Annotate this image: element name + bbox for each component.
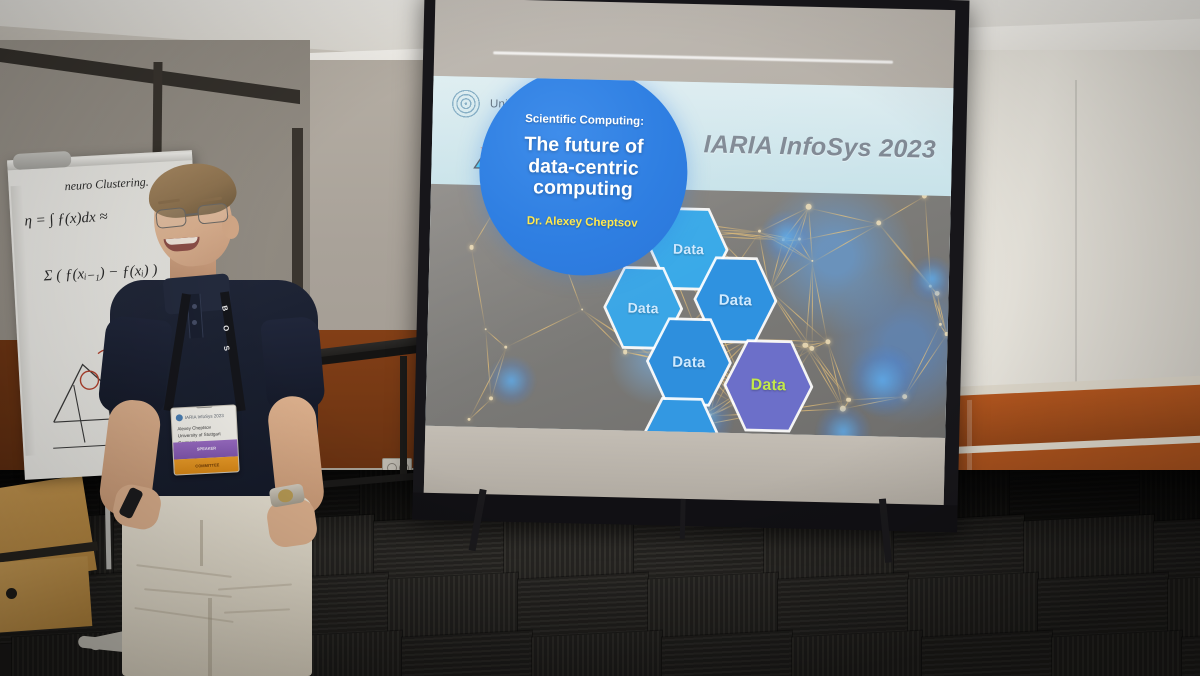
polo-button-1 — [192, 304, 197, 309]
trousers-leg-split — [208, 598, 212, 676]
slide-event-title: IARIA InfoSys 2023 — [703, 130, 936, 164]
desk-knob — [6, 588, 17, 599]
screen-tripod-leg-center — [680, 499, 686, 539]
table-leg-right — [400, 356, 407, 478]
eyeglass-bridge — [186, 213, 198, 216]
badge-logo-icon — [176, 414, 183, 421]
badge-org-line: IARIA InfoSys 2023 — [176, 410, 232, 424]
slide-eyebrow: Scientific Computing: — [525, 113, 644, 128]
badge-ribbon-speaker-label: SPEAKER — [173, 444, 239, 452]
presenter-teeth — [166, 237, 198, 245]
slide-title-circle-content: Scientific Computing: The future of data… — [477, 76, 690, 278]
slide-author: Dr. Alexey Cheptsov — [527, 215, 638, 230]
conference-badge: IARIA InfoSys 2023 Alexey Cheptsov Unive… — [170, 404, 239, 475]
slide-title-line-3: computing — [523, 177, 643, 202]
polo-button-2 — [192, 320, 197, 325]
badge-ribbon-committee-label: COMMITTEE — [174, 461, 239, 469]
presenter-figure: B O S IARIA InfoSys 2023 Alexey Cheptsov… — [96, 168, 356, 676]
projection-screen-assembly: Universität Stuttgart IARIA IARIA InfoSy… — [411, 0, 969, 560]
carpet-tile — [792, 631, 922, 676]
carpet-tile — [532, 631, 662, 676]
carpet-tile — [922, 631, 1052, 676]
badge-org-text: IARIA InfoSys 2023 — [185, 413, 224, 420]
eyeglass-lens-left — [155, 207, 187, 229]
universitaet-stuttgart-logo — [451, 88, 482, 119]
wristwatch-face — [277, 488, 294, 503]
slide-main-title: The future of data-centric computing — [523, 134, 644, 202]
trousers-fly — [200, 520, 203, 566]
carpet-tile — [1182, 631, 1200, 676]
flipchart-clamp — [13, 151, 72, 170]
carpet-tile — [662, 631, 792, 676]
eyeglass-lens-right — [197, 203, 229, 225]
projected-slide: Universität Stuttgart IARIA IARIA InfoSy… — [425, 76, 953, 438]
carpet-tile — [1052, 631, 1182, 676]
slide-title-circle: Scientific Computing: The future of data… — [477, 76, 690, 278]
data-hexagon: Data — [725, 339, 811, 433]
carpet-tile — [402, 631, 532, 676]
presentation-room-photo: Universität Stuttgart IARIA IARIA InfoSy… — [0, 0, 1200, 676]
